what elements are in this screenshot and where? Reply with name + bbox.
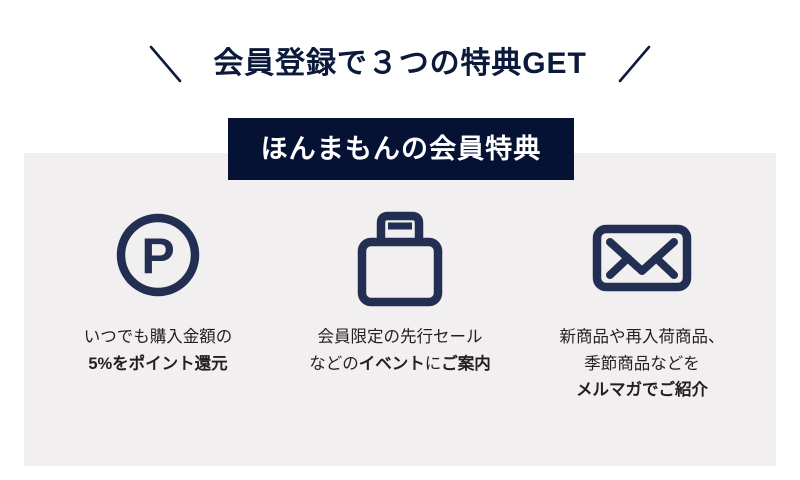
- benefit-icon-wrapper: [590, 200, 694, 310]
- benefit-item-points: P いつでも購入金額の 5%をポイント還元: [38, 200, 278, 377]
- caption-line: 5%をポイント還元: [84, 351, 233, 378]
- benefit-caption: いつでも購入金額の 5%をポイント還元: [84, 324, 233, 377]
- caption-line: いつでも購入金額の: [84, 324, 233, 351]
- caption-line: メルマガでご紹介: [560, 377, 725, 404]
- caption-run: イベント: [359, 355, 425, 373]
- benefit-caption: 新商品や再入荷商品、 季節商品などを メルマガでご紹介: [560, 324, 725, 404]
- caption-run: 5%をポイント還元: [88, 355, 227, 373]
- headline-text: 会員登録で３つの特典GET: [213, 49, 586, 79]
- caption-line: 会員限定の先行セール: [309, 324, 491, 351]
- caption-run: 季節商品などを: [584, 355, 700, 373]
- slash-right-icon: [613, 43, 653, 85]
- benefit-item-presale: 会員限定の先行セール などのイベントにご案内: [280, 200, 520, 377]
- caption-run: などの: [309, 355, 359, 373]
- benefit-icon-wrapper: P: [112, 200, 204, 310]
- caption-run: メルマガでご紹介: [576, 381, 708, 399]
- member-benefits-banner-text: ほんまもんの会員特典: [261, 136, 542, 163]
- caption-line: などのイベントにご案内: [309, 351, 491, 378]
- slash-left-icon: [147, 43, 187, 85]
- caption-run: いつでも購入金額の: [84, 328, 233, 346]
- point-circle-p-icon: P: [112, 209, 204, 301]
- benefit-icon-wrapper: [350, 200, 450, 310]
- headline: 会員登録で３つの特典GET: [0, 36, 800, 92]
- benefit-caption: 会員限定の先行セール などのイベントにご案内: [309, 324, 491, 377]
- caption-run: に: [425, 355, 442, 373]
- caption-line: 季節商品などを: [560, 351, 725, 378]
- caption-line: 新商品や再入荷商品、: [560, 324, 725, 351]
- benefits-list: P いつでも購入金額の 5%をポイント還元 会員限定の先行セール などのイベント…: [24, 200, 776, 404]
- shopping-bag-icon: [350, 201, 450, 309]
- envelope-icon: [590, 215, 694, 295]
- caption-run: 会員限定の先行セール: [318, 328, 483, 346]
- caption-run: 新商品や再入荷商品、: [560, 328, 725, 346]
- svg-text:P: P: [141, 228, 174, 284]
- caption-run: ご案内: [441, 355, 491, 373]
- benefit-item-newsletter: 新商品や再入荷商品、 季節商品などを メルマガでご紹介: [522, 200, 762, 404]
- member-benefits-banner: ほんまもんの会員特典: [228, 118, 574, 180]
